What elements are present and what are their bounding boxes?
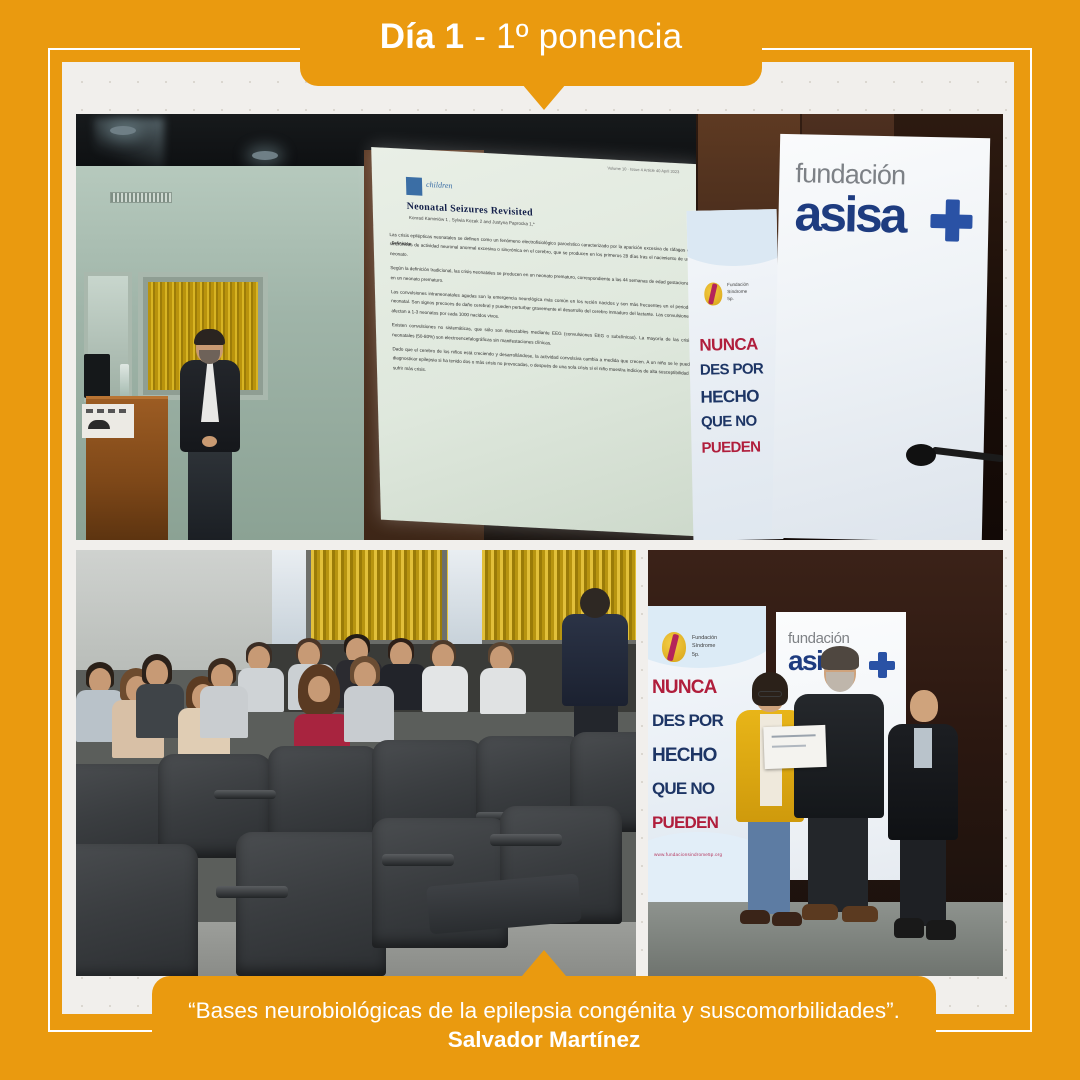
plus-cross-icon <box>930 199 973 242</box>
window-pane <box>448 550 482 644</box>
podium-monitor <box>84 354 110 398</box>
water-bottle <box>120 364 129 400</box>
window-pane <box>272 550 306 644</box>
sindrome5p-org-name: Fundación Síndrome 5p. <box>727 282 749 303</box>
projection-screen: children Volume 10 · Issue 4 Article 40 … <box>371 147 711 537</box>
photo-lecture-stage[interactable]: children Volume 10 · Issue 4 Article 40 … <box>76 114 1003 540</box>
header-day-label: Día 1 <box>380 17 465 56</box>
person-shoe <box>740 910 770 924</box>
person-shoe <box>926 920 956 940</box>
seat-armrest <box>216 886 288 898</box>
banner-sindrome5p: Fundación Síndrome 5p. NUNCA DES POR HEC… <box>687 209 784 540</box>
speaker-hand <box>202 436 217 447</box>
slide-body-text: Las crisis epilépticas neonatales se def… <box>389 230 693 393</box>
air-vent <box>110 192 172 203</box>
glasses-icon <box>758 691 782 697</box>
certificate-document <box>763 725 826 769</box>
person-shoe <box>894 918 924 938</box>
person-head <box>910 690 938 722</box>
standing-torso <box>562 614 628 706</box>
person-legs <box>808 804 868 912</box>
banner-decor <box>687 209 784 267</box>
person-beard <box>826 672 854 692</box>
banner-slogan-line: DES POR <box>700 361 776 378</box>
banner-slogan-line: HECHO <box>700 387 776 406</box>
header-separator: - <box>464 17 496 56</box>
seat-armrest <box>214 790 276 799</box>
auditorium-seat <box>236 832 386 976</box>
photo-collage: children Volume 10 · Issue 4 Article 40 … <box>76 114 1003 976</box>
speaker-person <box>172 332 250 540</box>
sindrome5p-logo-icon <box>662 632 686 662</box>
banner-url: www.fundacionsindrome5p.org <box>654 852 722 857</box>
person-top <box>914 728 932 768</box>
seat-armrest <box>490 834 562 846</box>
sindrome5p-logo-icon <box>704 282 722 305</box>
asisa-brand-text: asisa <box>794 184 905 244</box>
banner-asisa: fundación asisa <box>772 134 990 540</box>
banner-slogan-line: NUNCA <box>699 335 775 354</box>
banner-slogan-line: QUE NO <box>701 413 777 430</box>
seat-armrest <box>382 854 454 866</box>
speaker-hair <box>194 329 225 345</box>
speaker-legs <box>188 448 232 540</box>
footer-ribbon: “Bases neurobiológicas de la epilepsia c… <box>152 976 936 1080</box>
header-notch-arrow <box>522 84 566 110</box>
person-hair <box>752 672 788 706</box>
header-title: Día 1 - 1º ponencia <box>380 17 683 57</box>
mic-head <box>906 444 936 466</box>
talk-title: “Bases neurobiológicas de la epilepsia c… <box>188 998 900 1023</box>
person-legs <box>900 830 946 926</box>
banner-slogan-line: PUEDEN <box>701 439 777 456</box>
auditorium-seat <box>76 844 198 976</box>
photo-award-group[interactable]: fundación asisa Fundación Síndrome 5p. N… <box>648 550 1003 976</box>
podium-sign <box>82 404 134 438</box>
window-mullion <box>306 550 311 644</box>
person-right <box>886 668 962 946</box>
header-ribbon: Día 1 - 1º ponencia <box>300 0 762 86</box>
journal-logo-icon <box>406 177 422 196</box>
window-mullion <box>442 550 447 644</box>
attendee-standing <box>558 588 630 748</box>
slide-header-meta: Volume 10 · Issue 4 Article 40 April 202… <box>607 165 679 175</box>
person-shoe <box>802 904 838 920</box>
person-center-awardee <box>794 632 886 942</box>
speaker-name: Salvador Martínez <box>448 1027 641 1052</box>
standing-head <box>580 588 610 618</box>
footer-caption: “Bases neurobiológicas de la epilepsia c… <box>152 996 936 1055</box>
journal-logo-text: children <box>426 180 453 190</box>
mic-stem <box>932 447 1003 463</box>
ceiling-light-icon <box>110 126 136 135</box>
poster-canvas: children Volume 10 · Issue 4 Article 40 … <box>0 0 1080 1080</box>
ceiling-light-icon <box>252 151 278 160</box>
person-hair <box>821 646 859 670</box>
microphone-icon <box>906 444 1002 466</box>
header-session-label: 1º ponencia <box>496 17 682 56</box>
footer-notch-arrow <box>522 950 566 976</box>
sindrome5p-org-name: Fundación Síndrome 5p. <box>692 634 717 659</box>
person-legs <box>748 810 790 914</box>
person-shoe <box>842 906 878 922</box>
photo-audience[interactable] <box>76 550 636 976</box>
